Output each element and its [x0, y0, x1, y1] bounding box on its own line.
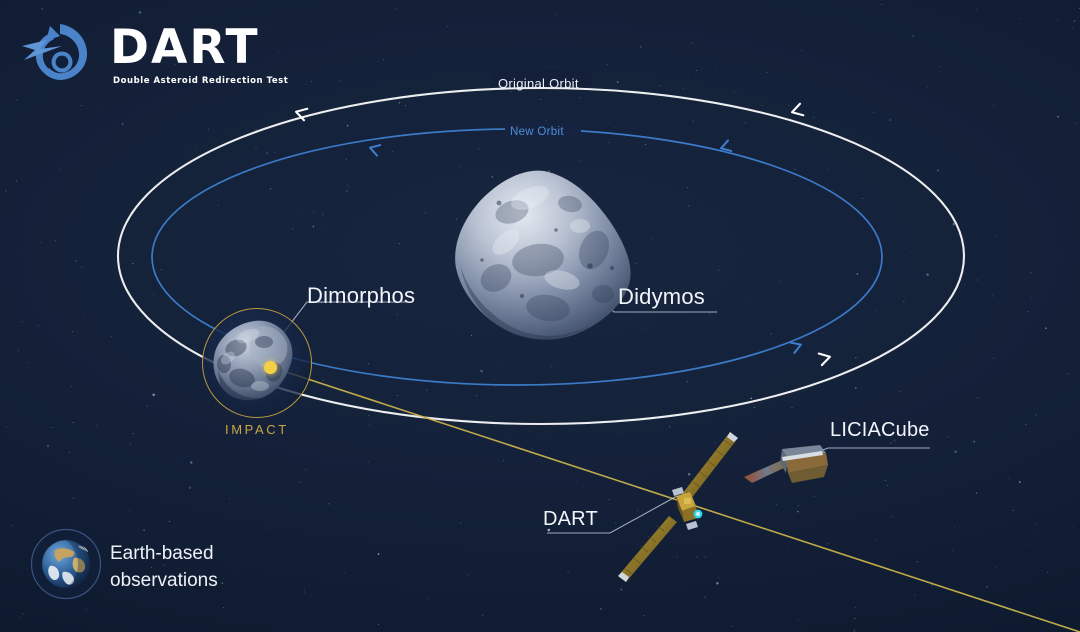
didymos-asteroid: [452, 168, 638, 343]
impact-label: IMPACT: [225, 422, 289, 437]
logo-subtitle: Double Asteroid Redirection Test: [113, 75, 288, 87]
earth-label-line-1: Earth-based: [110, 543, 214, 564]
liciacube-spacecraft: [742, 443, 834, 501]
liciacube-label: LICIACube: [830, 419, 930, 442]
earth-label-line-2: observations: [110, 570, 218, 591]
original-orbit-label: Original Orbit: [498, 76, 579, 91]
dart-spacecraft-logo-icon: [16, 20, 100, 86]
dart-label: DART: [543, 508, 598, 531]
dart-bus: [672, 487, 702, 530]
impact-point-marker: [264, 361, 277, 374]
earth-observations-label: Earth-based observations: [110, 540, 310, 594]
didymos-label: Didymos: [618, 284, 705, 310]
earth-globe-icon: [30, 528, 102, 600]
new-orbit-label: New Orbit: [510, 126, 564, 138]
dimorphos-label: Dimorphos: [307, 283, 415, 309]
dart-solar-panel-lower: [618, 516, 677, 582]
logo-title: DART: [110, 24, 288, 71]
dart-logo: DART Double Asteroid Redirection Test: [16, 20, 288, 87]
dart-mission-infographic: DART Double Asteroid Redirection Test Or…: [0, 0, 1080, 632]
dimorphos-asteroid: [202, 308, 312, 418]
dart-spacecraft: [610, 430, 760, 590]
